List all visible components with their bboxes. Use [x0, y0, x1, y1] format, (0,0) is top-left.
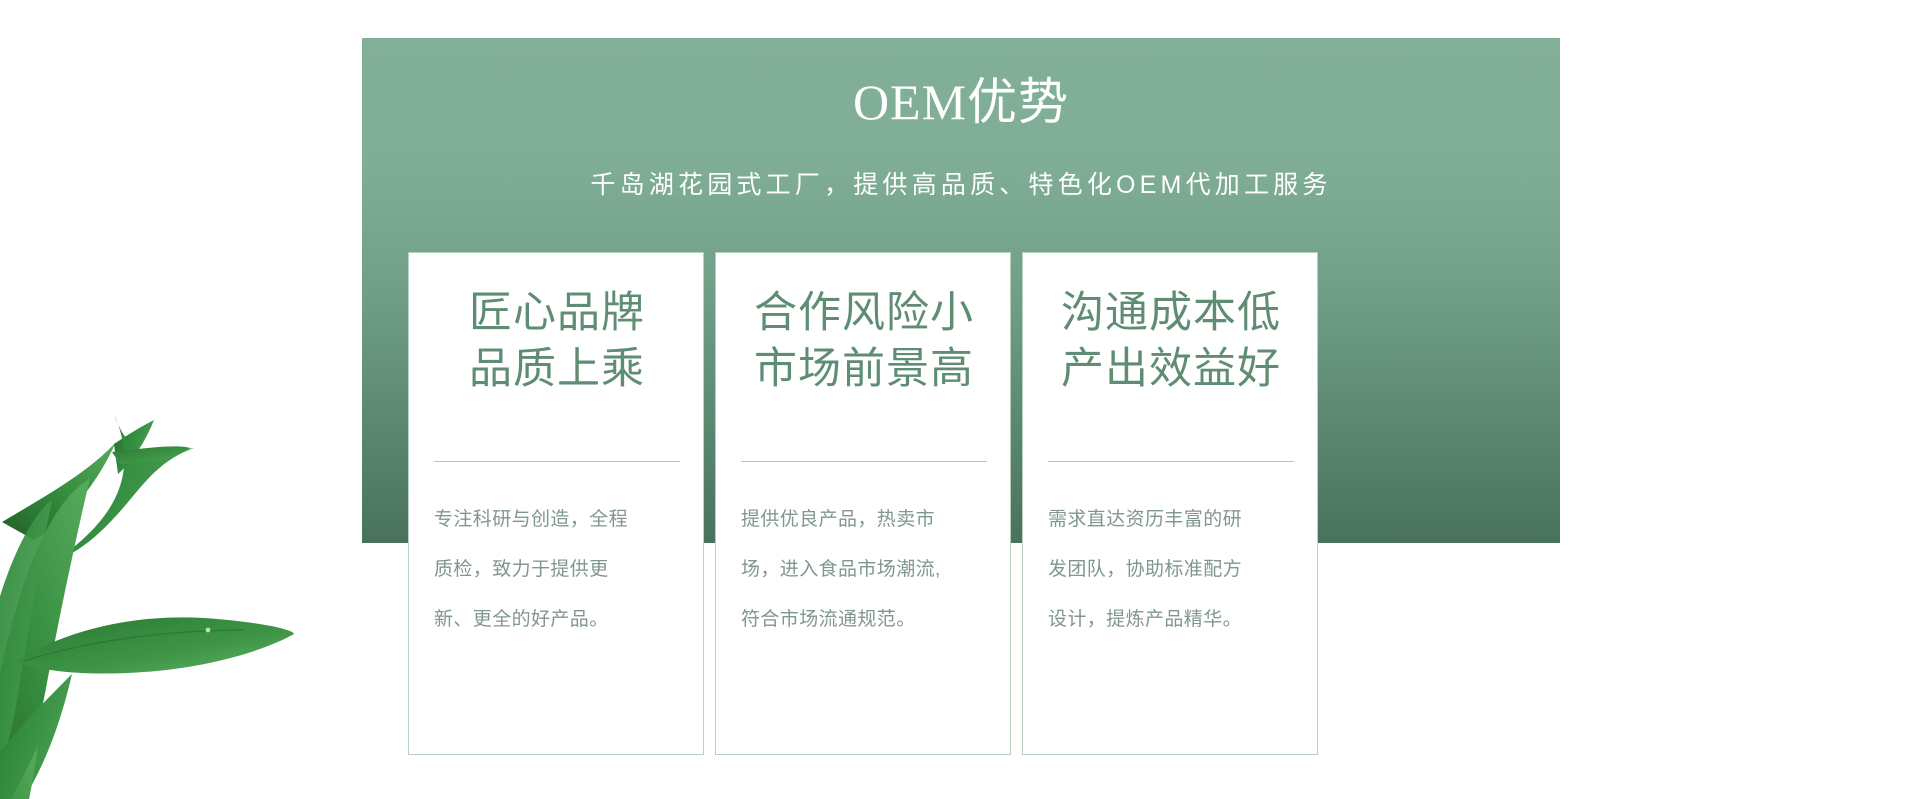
- feature-card-body: 提供优良产品，热卖市 场，进入食品市场潮流, 符合市场流通规范。: [741, 495, 989, 645]
- page-title: OEM优势: [362, 72, 1560, 132]
- feature-card-heading-line1: 合作风险小: [716, 285, 1012, 341]
- feature-card-body-line2: 场，进入食品市场潮流,: [741, 545, 989, 595]
- feature-card-body-line3: 设计，提炼产品精华。: [1048, 595, 1296, 645]
- feature-card-heading: 匠心品牌 品质上乘: [409, 285, 705, 397]
- feature-card[interactable]: 匠心品牌 品质上乘 专注科研与创造，全程 质检，致力于提供更 新、更全的好产品。: [408, 252, 704, 755]
- feature-card-heading-line1: 匠心品牌: [409, 285, 705, 341]
- feature-card[interactable]: 合作风险小 市场前景高 提供优良产品，热卖市 场，进入食品市场潮流, 符合市场流…: [715, 252, 1011, 755]
- feature-card-body-line1: 专注科研与创造，全程: [434, 495, 682, 545]
- feature-card-heading-line2: 市场前景高: [716, 341, 1012, 397]
- feature-card-divider: [434, 461, 680, 462]
- feature-card-heading-line1: 沟通成本低: [1023, 285, 1319, 341]
- bamboo-leaves-icon: [0, 322, 294, 799]
- feature-card-body-line3: 新、更全的好产品。: [434, 595, 682, 645]
- feature-card[interactable]: 沟通成本低 产出效益好 需求直达资历丰富的研 发团队，协助标准配方 设计，提炼产…: [1022, 252, 1318, 755]
- feature-card-body-line1: 需求直达资历丰富的研: [1048, 495, 1296, 545]
- page-subtitle: 千岛湖花园式工厂，提供高品质、特色化OEM代加工服务: [362, 168, 1560, 202]
- feature-card-body: 专注科研与创造，全程 质检，致力于提供更 新、更全的好产品。: [434, 495, 682, 645]
- feature-card-body-line2: 质检，致力于提供更: [434, 545, 682, 595]
- feature-card-body-line2: 发团队，协助标准配方: [1048, 545, 1296, 595]
- page-canvas: OEM优势 千岛湖花园式工厂，提供高品质、特色化OEM代加工服务 匠心品牌 品质…: [0, 0, 1920, 799]
- feature-card-divider: [741, 461, 987, 462]
- feature-card-divider: [1048, 461, 1294, 462]
- feature-card-body: 需求直达资历丰富的研 发团队，协助标准配方 设计，提炼产品精华。: [1048, 495, 1296, 645]
- feature-card-body-line1: 提供优良产品，热卖市: [741, 495, 989, 545]
- feature-card-heading: 沟通成本低 产出效益好: [1023, 285, 1319, 397]
- feature-card-list: 匠心品牌 品质上乘 专注科研与创造，全程 质检，致力于提供更 新、更全的好产品。…: [408, 252, 1518, 755]
- feature-card-heading: 合作风险小 市场前景高: [716, 285, 1012, 397]
- feature-card-heading-line2: 品质上乘: [409, 341, 705, 397]
- feature-card-heading-line2: 产出效益好: [1023, 341, 1319, 397]
- feature-card-body-line3: 符合市场流通规范。: [741, 595, 989, 645]
